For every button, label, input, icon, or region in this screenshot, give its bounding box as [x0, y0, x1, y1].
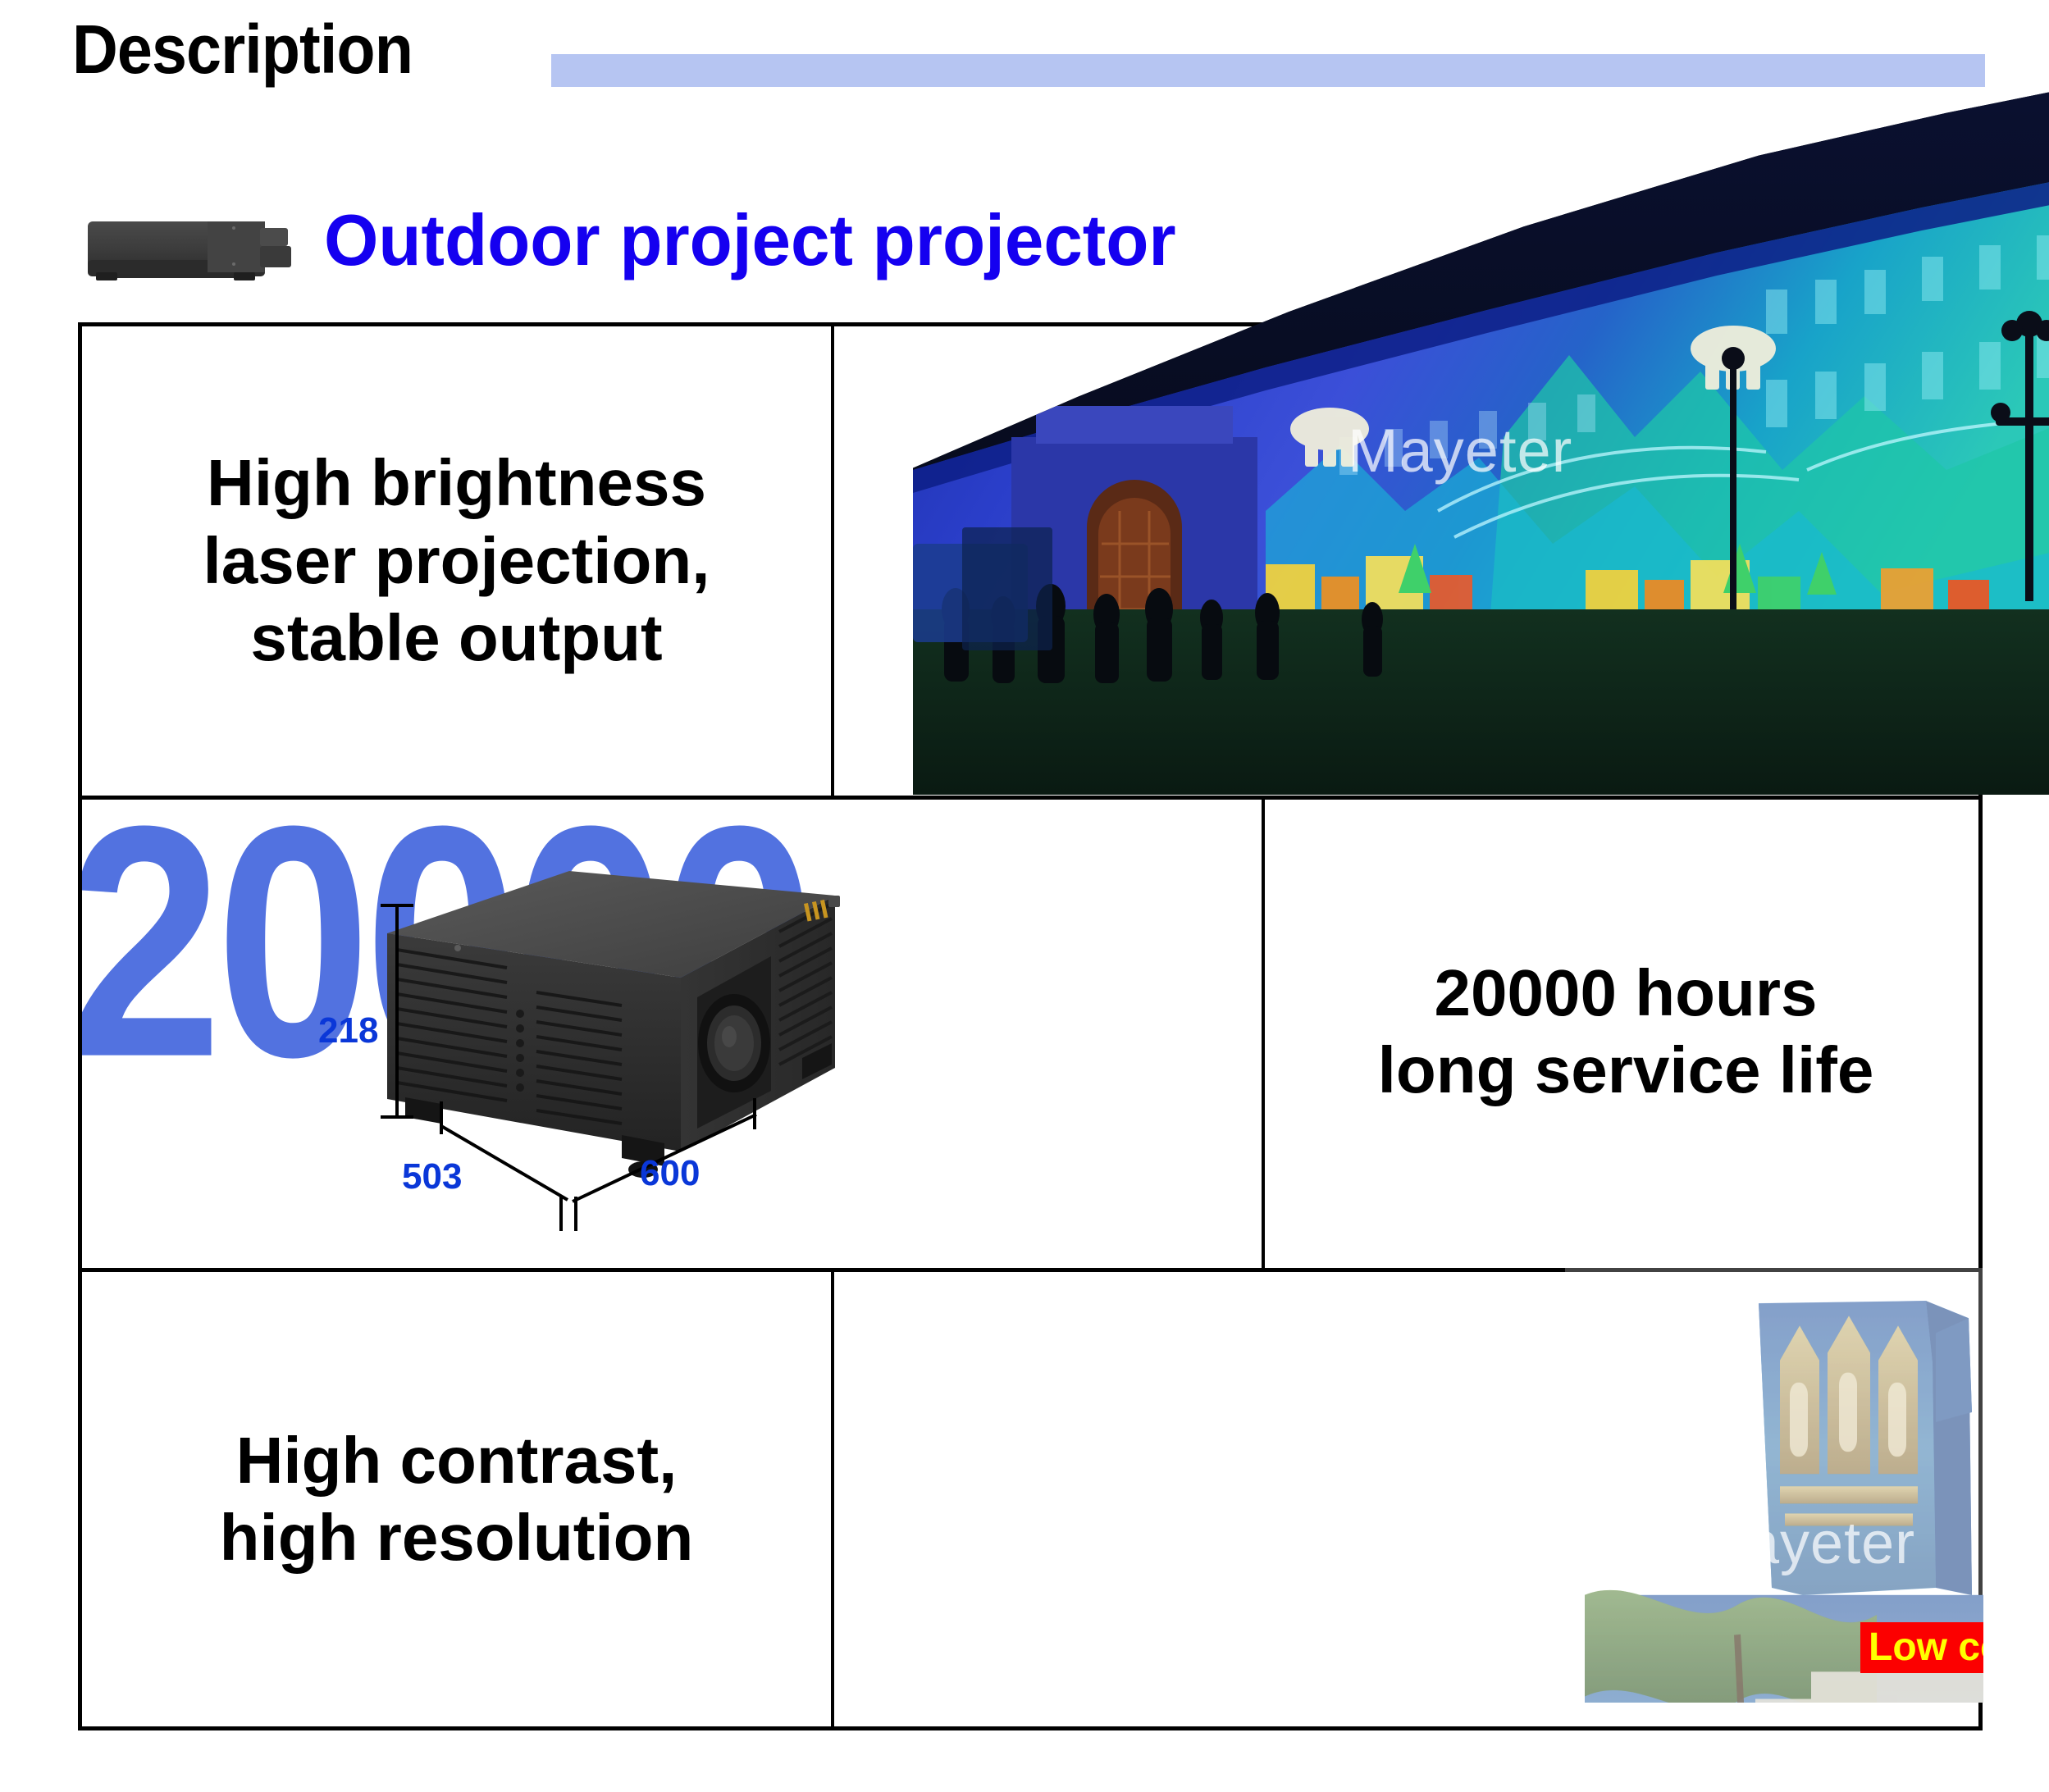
- facade-projection-art: [913, 84, 2049, 795]
- brightness-line-3: stable output: [250, 601, 662, 674]
- life-line-1: 20000 hours: [1435, 956, 1818, 1029]
- page-title: Description: [72, 15, 413, 84]
- header-accent-bar: [551, 54, 1985, 87]
- projector-side-icon: [84, 215, 303, 289]
- brightness-line-1: High brightness: [207, 446, 706, 519]
- life-line-2: long service life: [1378, 1033, 1874, 1106]
- feature-cell-brightness: High brightness laser projection, stable…: [82, 326, 831, 796]
- col-divider-row3: [831, 1268, 834, 1730]
- dimension-diagram-cell: 20000: [82, 796, 1262, 1268]
- product-description-page: Description Outdoor project proje: [0, 0, 2049, 1792]
- projection-photo-canvas: [913, 84, 2049, 795]
- dim-label-height: 218: [318, 1010, 378, 1051]
- contrast-line-1: High contrast,: [236, 1424, 678, 1497]
- dim-label-depth: 503: [402, 1156, 462, 1197]
- feature-cell-contrast: High contrast, high resolution: [82, 1268, 831, 1730]
- brightness-line-2: laser projection,: [203, 524, 710, 597]
- dim-label-width: 600: [640, 1153, 700, 1194]
- feature-table: High brightness laser projection, stable…: [78, 322, 1983, 1730]
- top-projection-image: Mayeter: [913, 84, 2049, 795]
- bottom-projection-cell: Mayeter Low contrast High contrast: [835, 1268, 1983, 1730]
- col-divider-row1: [831, 326, 834, 796]
- bottom-projection-image: Mayeter Low contrast High contrast: [1565, 1411, 1983, 1703]
- feature-cell-service-life: 20000 hours long service life: [1265, 796, 1987, 1268]
- low-contrast-badge: Low contrast: [1860, 1622, 1983, 1673]
- contrast-comparison-labels: Low contrast High contrast: [1860, 1622, 1983, 1673]
- contrast-line-2: high resolution: [220, 1501, 694, 1574]
- dim-tick-height-top: [381, 904, 413, 907]
